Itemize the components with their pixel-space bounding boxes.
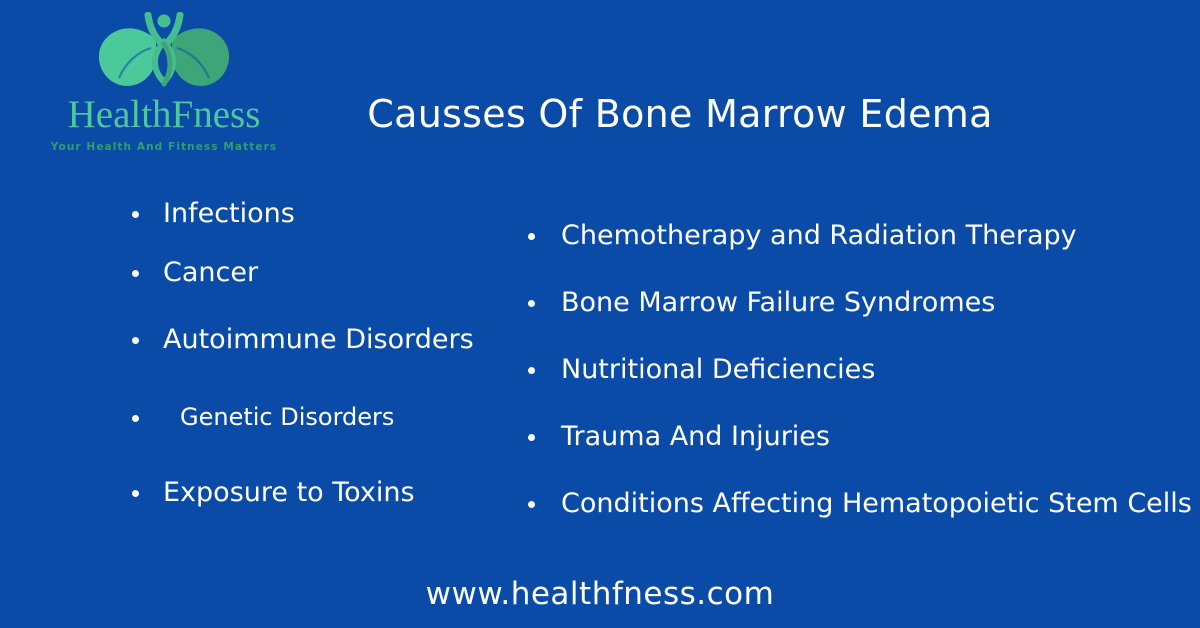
bullet-icon (528, 300, 535, 307)
bullet-icon (528, 233, 535, 240)
bullet-icon (528, 434, 535, 441)
list-item: Chemotherapy and Radiation Therapy (528, 202, 1200, 269)
list-item-label: Nutritional Deficiencies (561, 336, 875, 403)
list-item: Genetic Disorders (132, 375, 532, 460)
bullet-icon (132, 415, 139, 422)
brand-tagline: Your Health And Fitness Matters (48, 141, 280, 153)
brand-name: HealthFness (48, 95, 280, 136)
page-title: Causses Of Bone Marrow Edema (300, 92, 1060, 136)
list-item-label: Cancer (163, 240, 258, 305)
list-item-label: Genetic Disorders (180, 375, 394, 460)
list-item-label: Conditions Affecting Hematopoietic Stem … (561, 470, 1192, 537)
list-item-label: Exposure to Toxins (163, 460, 415, 526)
list-item-label: Chemotherapy and Radiation Therapy (561, 202, 1077, 269)
causes-list-right: Chemotherapy and Radiation Therapy Bone … (528, 202, 1200, 537)
list-item: Trauma And Injuries (528, 403, 1200, 470)
list-item: Conditions Affecting Hematopoietic Stem … (528, 470, 1200, 537)
bullet-icon (132, 211, 139, 218)
list-item-label: Trauma And Injuries (561, 403, 830, 470)
bullet-icon (132, 270, 139, 277)
list-item: Cancer (132, 240, 532, 305)
bullet-icon (132, 490, 139, 497)
list-item: Nutritional Deficiencies (528, 336, 1200, 403)
website-url[interactable]: www.healthfness.com (0, 576, 1200, 612)
list-item: Infections (132, 188, 532, 240)
list-item: Autoimmune Disorders (132, 305, 532, 375)
leaf-figure-logo-icon (94, 12, 234, 94)
bullet-icon (132, 337, 139, 344)
list-item: Bone Marrow Failure Syndromes (528, 269, 1200, 336)
poster-canvas: HealthFness Your Health And Fitness Matt… (0, 0, 1200, 628)
list-item-label: Infections (163, 188, 295, 240)
bullet-icon (528, 501, 535, 508)
brand-logo[interactable]: HealthFness Your Health And Fitness Matt… (48, 12, 280, 153)
bullet-icon (528, 367, 535, 374)
list-item-label: Bone Marrow Failure Syndromes (561, 269, 995, 336)
list-item-label: Autoimmune Disorders (163, 305, 474, 375)
causes-list-left: Infections Cancer Autoimmune Disorders G… (132, 188, 532, 526)
list-item: Exposure to Toxins (132, 460, 532, 526)
